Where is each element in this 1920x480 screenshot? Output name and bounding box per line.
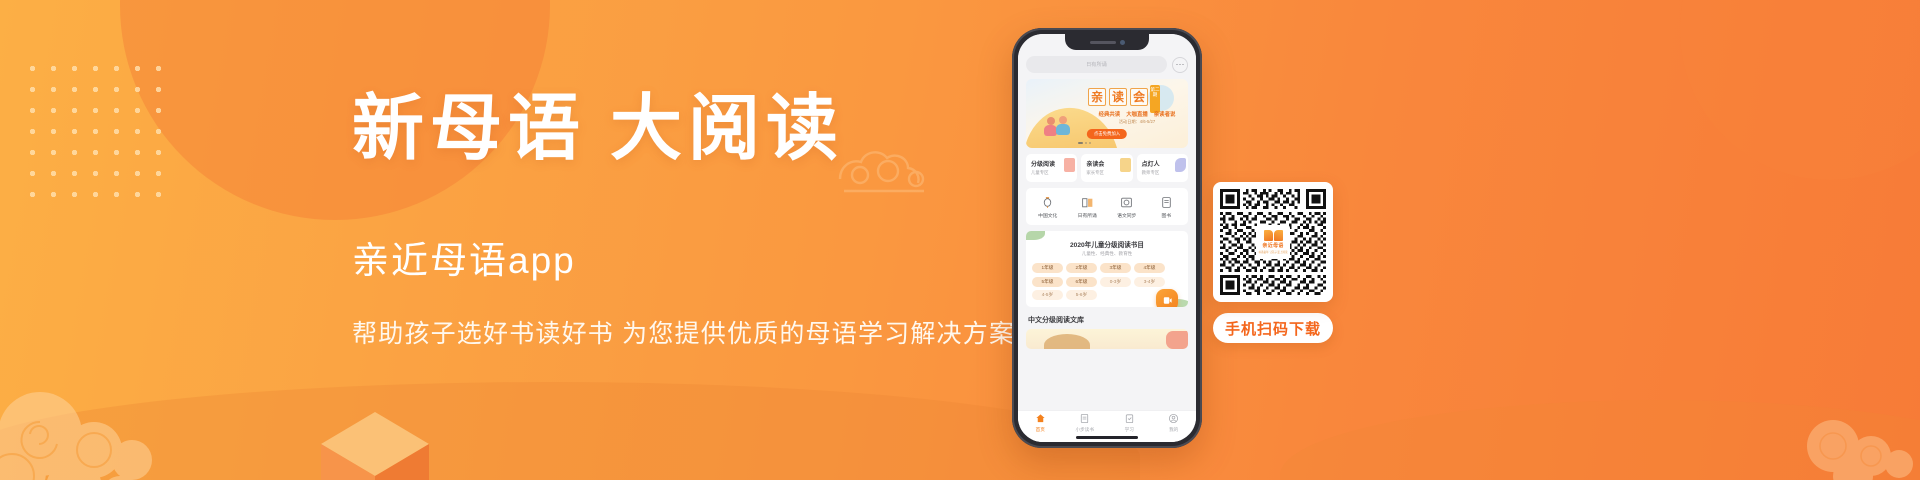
page-title: 新母语 大阅读 <box>352 86 1052 174</box>
quick-link-label: 图书 <box>1147 212 1187 219</box>
tagline: 帮助孩子选好书读好书 为您提供优质的母语学习解决方案 <box>352 314 1052 350</box>
zone-card-graded-reading[interactable]: 分级阅读 儿童专区 <box>1026 154 1077 182</box>
decorative-circle-right <box>1680 0 1920 180</box>
search-input[interactable]: 日有所诵 <box>1026 56 1167 73</box>
hero-title-char: 读 <box>1109 88 1127 106</box>
app-home-screen: 日有所诵 <box>1018 34 1196 442</box>
tab-label: 学习 <box>1107 427 1152 433</box>
video-play-icon[interactable] <box>1156 289 1178 307</box>
quick-link-label: 中国文化 <box>1028 212 1068 219</box>
tab-profile[interactable]: 我的 <box>1152 413 1197 434</box>
app-search-row: 日有所诵 <box>1026 56 1188 73</box>
decorative-hill-left <box>0 382 1140 480</box>
grade-chip[interactable]: 2年级 <box>1066 263 1097 273</box>
more-dots-icon[interactable] <box>1172 57 1188 73</box>
qr-code[interactable]: 亲近母语 书香童年 让孩子爱上阅读 <box>1213 182 1333 302</box>
hero-banner-card[interactable]: 亲 读 会 第二期 经典共读 大咖直播 亲读者说 活动日期：4/6-5/27 点… <box>1026 79 1188 148</box>
quick-link-books[interactable]: 图书 <box>1147 195 1187 219</box>
tab-reading[interactable]: 小步读书 <box>1063 413 1108 434</box>
home-icon <box>1035 413 1046 425</box>
home-indicator <box>1076 436 1138 439</box>
hero-date: 活动日期：4/6-5/27 <box>1082 119 1188 125</box>
qr-center-logo: 亲近母语 书香童年 让孩子爱上阅读 <box>1256 225 1290 259</box>
grade-chip[interactable]: 5年级 <box>1032 277 1063 287</box>
hero-subitem: 经典共读 <box>1099 110 1121 118</box>
phone-frame: 日有所诵 <box>1012 28 1202 448</box>
dot-grid-pattern-icon <box>22 58 174 210</box>
phone-notch <box>1065 34 1149 50</box>
booklist-title: 2020年儿童分级阅读书目 <box>1032 239 1182 249</box>
grade-chips: 1年级 2年级 3年级 4年级 5年级 6年级 0-3岁 3-4岁 4-5岁 5… <box>1032 263 1182 300</box>
zone-card-parent[interactable]: 亲读会 家长专区 <box>1081 154 1132 182</box>
decorative-hill-right <box>1280 400 1920 480</box>
quick-links-row: 中国文化 日有所诵 <box>1026 188 1188 225</box>
hero-subitems: 经典共读 大咖直播 亲读者说 <box>1082 110 1188 118</box>
open-book-icon <box>1080 195 1094 209</box>
qr-download-block: 亲近母语 书香童年 让孩子爱上阅读 手机扫码下载 <box>1213 182 1333 343</box>
book-logo-icon <box>1264 230 1283 241</box>
library-title: 中文分级阅读文库 <box>1026 313 1188 329</box>
hero-ribbon-badge: 第二期 <box>1150 85 1160 113</box>
promo-banner: 新母语 大阅读 亲近母语app 帮助孩子选好书读好书 为您提供优质的母语学习解决… <box>0 0 1920 480</box>
lantern-icon <box>1041 195 1055 209</box>
hero-title: 亲 读 会 <box>1088 88 1148 106</box>
zone-cards: 分级阅读 儿童专区 亲读会 家长专区 点灯人 教师专区 <box>1026 154 1188 182</box>
hero-subitem: 亲读者说 <box>1154 110 1176 118</box>
chinese-cloud-motif-icon <box>0 364 192 480</box>
bookmark-yellow-icon <box>1120 158 1131 172</box>
tab-label: 我的 <box>1152 427 1197 433</box>
quick-link-sync[interactable]: 语文同步 <box>1107 195 1147 219</box>
hero-join-button[interactable]: 点击免费加入 <box>1087 129 1127 139</box>
kid-illustration-2 <box>1056 116 1070 134</box>
hero-title-char: 会 <box>1130 88 1148 106</box>
grade-chip[interactable]: 3年级 <box>1100 263 1131 273</box>
grade-chip[interactable]: 4年级 <box>1134 263 1165 273</box>
quick-link-label: 日有所诵 <box>1068 212 1108 219</box>
user-circle-icon <box>1168 413 1179 425</box>
bookmark-purple-icon <box>1175 158 1186 172</box>
age-chip[interactable]: 4-5岁 <box>1032 290 1063 300</box>
arch-decor-icon <box>1044 334 1090 349</box>
pink-decor-icon <box>1166 331 1188 349</box>
zone-card-teacher[interactable]: 点灯人 教师专区 <box>1137 154 1188 182</box>
tab-home[interactable]: 首页 <box>1018 413 1063 434</box>
3d-cube-shape-icon <box>315 406 435 480</box>
hero-title-char: 亲 <box>1088 88 1106 106</box>
clipboard-check-icon <box>1124 413 1135 425</box>
circle-square-icon <box>1120 195 1134 209</box>
bookmark-red-icon <box>1064 158 1075 172</box>
tab-label: 首页 <box>1018 427 1063 433</box>
qr-canvas: 亲近母语 书香童年 让孩子爱上阅读 <box>1220 189 1326 295</box>
hero-subitem: 大咖直播 <box>1126 110 1148 118</box>
carousel-pager[interactable] <box>1078 142 1091 144</box>
age-chip[interactable]: 5-6岁 <box>1066 290 1097 300</box>
qr-logo-title: 亲近母语 <box>1262 242 1283 249</box>
age-chip[interactable]: 3-4岁 <box>1134 277 1165 287</box>
book-icon <box>1159 195 1173 209</box>
chinese-cloud-motif-right-icon <box>1799 402 1919 480</box>
qr-logo-subtitle: 书香童年 让孩子爱上阅读 <box>1258 250 1287 254</box>
app-name: 亲近母语app <box>352 230 1052 284</box>
booklist-card: 2020年儿童分级阅读书目 儿童性、经典性、教育性 1年级 2年级 3年级 4年… <box>1026 231 1188 307</box>
phone-screen: 日有所诵 <box>1018 34 1196 442</box>
quick-link-culture[interactable]: 中国文化 <box>1028 195 1068 219</box>
quick-link-recite[interactable]: 日有所诵 <box>1068 195 1108 219</box>
grade-chip[interactable]: 1年级 <box>1032 263 1063 273</box>
age-chip[interactable]: 0-3岁 <box>1100 277 1131 287</box>
quick-link-label: 语文同步 <box>1107 212 1147 219</box>
library-card[interactable] <box>1026 329 1188 349</box>
download-button[interactable]: 手机扫码下载 <box>1213 313 1333 343</box>
booklist-subtitle: 儿童性、经典性、教育性 <box>1032 251 1182 257</box>
banner-copy: 新母语 大阅读 亲近母语app 帮助孩子选好书读好书 为您提供优质的母语学习解决… <box>352 86 1052 350</box>
grade-chip[interactable]: 6年级 <box>1066 277 1097 287</box>
phone-mockup: 日有所诵 <box>1012 28 1202 448</box>
tab-label: 小步读书 <box>1063 427 1108 433</box>
tab-study[interactable]: 学习 <box>1107 413 1152 434</box>
list-icon <box>1079 413 1090 425</box>
